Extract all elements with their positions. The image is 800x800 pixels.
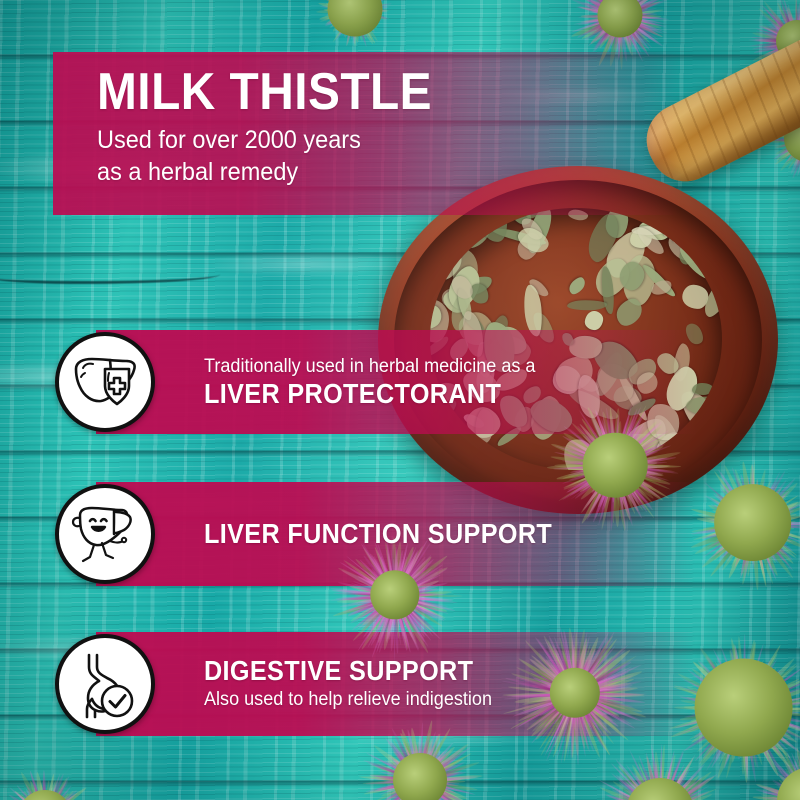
hero-subtitle-line-2: as a herbal remedy xyxy=(97,156,529,188)
hero-subtitle-line-1: Used for over 2000 years xyxy=(97,124,529,156)
happy-liver-character-icon xyxy=(55,484,155,584)
hero-text-block: MILK THISTLE Used for over 2000 years as… xyxy=(97,66,557,188)
herb-leaf xyxy=(434,432,473,470)
thistle-bracts xyxy=(660,430,800,615)
feature-note-above: Traditionally used in herbal medicine as… xyxy=(204,355,535,379)
herb-leaf xyxy=(583,310,603,331)
herb-leaf xyxy=(567,300,607,310)
feature-heading: LIVER FUNCTION SUPPORT xyxy=(204,519,552,549)
thistle-flower xyxy=(660,430,800,615)
thistle-receptacle xyxy=(393,753,447,800)
liver-shield-cross-icon xyxy=(55,332,155,432)
thistle-flower xyxy=(330,690,510,800)
stomach-checkmark-icon xyxy=(55,634,155,734)
feature-heading: LIVER PROTECTORANT xyxy=(204,379,518,409)
feature-heading: DIGESTIVE SUPPORT xyxy=(204,656,477,686)
page-title: MILK THISTLE xyxy=(97,66,520,118)
thistle-flower xyxy=(726,716,800,800)
thistle-receptacle xyxy=(714,484,792,562)
herb-leaf xyxy=(566,275,587,297)
thistle-receptacle xyxy=(583,433,648,498)
thistle-bracts xyxy=(330,690,510,800)
infographic-canvas: MILK THISTLE Used for over 2000 years as… xyxy=(0,0,800,800)
thistle-bracts xyxy=(0,742,120,800)
thistle-flower xyxy=(0,742,120,800)
feature-text-block: Traditionally used in herbal medicine as… xyxy=(204,355,553,410)
thistle-bracts xyxy=(726,716,800,800)
